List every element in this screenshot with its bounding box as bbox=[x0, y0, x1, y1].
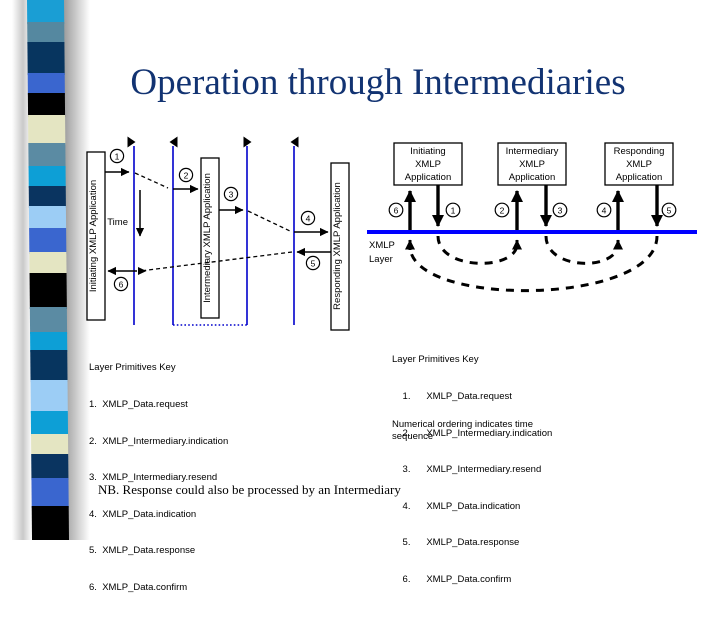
app-box-responding-line2: XMLP bbox=[626, 159, 652, 170]
step-marker-6: 6 bbox=[114, 277, 127, 290]
app-box-responding-line1: Responding bbox=[614, 146, 665, 157]
time-axis: Time bbox=[107, 190, 140, 236]
lifeline-label-intermediary: Intermediary XMLP Application bbox=[202, 173, 213, 303]
message-dashed-3-4 bbox=[248, 211, 290, 231]
right-key-item-3: 3. XMLP_Intermediary.resend bbox=[392, 464, 552, 476]
nb-note: NB. Response could also be processed by … bbox=[98, 482, 401, 498]
app-box-initiating: Initiating XMLP Application bbox=[394, 143, 462, 185]
app-box-responding-line3: Application bbox=[616, 172, 662, 183]
dash-arrowhead-6 bbox=[138, 267, 147, 275]
step-number-1: 1 bbox=[115, 151, 120, 161]
lifeline-label-responding: Responding XMLP Application bbox=[332, 182, 343, 310]
app-box-intermediary-line3: Application bbox=[509, 172, 555, 183]
step-marker-1: 1 bbox=[110, 149, 123, 162]
app-box-intermediary-line1: Intermediary bbox=[506, 146, 559, 157]
boundary-arrow-right-4 bbox=[291, 137, 299, 148]
right-key-title: Layer Primitives Key bbox=[392, 354, 552, 366]
page-title: Operation through Intermediaries bbox=[68, 58, 688, 110]
app-box-initiating-line2: XMLP bbox=[415, 159, 441, 170]
primitive-number-3: 3 bbox=[558, 205, 563, 215]
right-key-item-4: 4. XMLP_Data.indication bbox=[392, 501, 552, 513]
xmlp-layer-label-line1: XMLP bbox=[369, 240, 395, 251]
step-number-5: 5 bbox=[311, 258, 316, 268]
step-number-3: 3 bbox=[229, 189, 234, 199]
left-key-item-4: 4. XMLP_Data.indication bbox=[89, 509, 228, 521]
right-key-item-6: 6. XMLP_Data.confirm bbox=[392, 574, 552, 586]
left-key-item-6: 6. XMLP_Data.confirm bbox=[89, 582, 228, 594]
app-box-initiating-line3: Application bbox=[405, 172, 451, 183]
step-marker-4: 4 bbox=[301, 211, 314, 224]
step-number-2: 2 bbox=[184, 170, 189, 180]
app-box-initiating-line1: Initiating bbox=[410, 146, 445, 157]
primitive-number-5: 5 bbox=[667, 205, 672, 215]
xmlp-layer-label-line2: Layer bbox=[369, 254, 393, 265]
lifeline-label-initiating: Initiating XMLP Application bbox=[88, 180, 99, 292]
boundary-arrowhead-group bbox=[128, 137, 299, 148]
app-box-intermediary-line2: XMLP bbox=[519, 159, 545, 170]
boundary-arrow-left-1 bbox=[128, 137, 136, 148]
boundary-arrow-left-3 bbox=[244, 137, 252, 148]
layer-transfer-3-4 bbox=[546, 236, 618, 263]
sequence-diagram: Initiating XMLP Application Intermediary… bbox=[80, 132, 365, 337]
layer-transfer-5-6 bbox=[410, 236, 657, 291]
step-marker-5: 5 bbox=[306, 256, 319, 269]
primitive-marker-4: 4 bbox=[597, 203, 611, 217]
step-number-4: 4 bbox=[306, 213, 311, 223]
message-arrow-6 bbox=[108, 267, 147, 275]
slide-canvas: Operation through Intermediaries bbox=[0, 0, 720, 540]
left-key-item-1: 1. XMLP_Data.request bbox=[89, 399, 228, 411]
app-box-intermediary: Intermediary XMLP Application bbox=[498, 143, 566, 185]
boundary-arrow-right-2 bbox=[170, 137, 178, 148]
time-axis-label: Time bbox=[107, 217, 128, 228]
step-number-6: 6 bbox=[119, 279, 124, 289]
primitive-marker-2: 2 bbox=[495, 203, 509, 217]
right-key-item-5: 5. XMLP_Data.response bbox=[392, 537, 552, 549]
primitive-marker-1: 1 bbox=[446, 203, 460, 217]
primitive-marker-6: 6 bbox=[389, 203, 403, 217]
left-key-title: Layer Primitives Key bbox=[89, 362, 228, 374]
right-key-item-1: 1. XMLP_Data.request bbox=[392, 391, 552, 403]
left-key-item-5: 5. XMLP_Data.response bbox=[89, 545, 228, 557]
primitive-marker-5: 5 bbox=[662, 203, 676, 217]
lifeline-intermediary: Intermediary XMLP Application bbox=[201, 158, 219, 318]
lifeline-responding: Responding XMLP Application bbox=[331, 163, 349, 330]
layer-transfer-1-2 bbox=[438, 236, 517, 263]
primitive-marker-3: 3 bbox=[553, 203, 567, 217]
primitive-number-1: 1 bbox=[451, 205, 456, 215]
layer-diagram: Initiating XMLP Application Intermediary… bbox=[365, 136, 705, 321]
primitive-number-4: 4 bbox=[602, 205, 607, 215]
left-primitives-key: Layer Primitives Key 1. XMLP_Data.reques… bbox=[89, 338, 228, 619]
primitive-number-2: 2 bbox=[500, 205, 505, 215]
primitive-number-6: 6 bbox=[394, 205, 399, 215]
app-box-responding: Responding XMLP Application bbox=[605, 143, 673, 185]
lifeline-initiating: Initiating XMLP Application bbox=[87, 152, 105, 320]
step-marker-3: 3 bbox=[224, 187, 237, 200]
left-key-item-2: 2. XMLP_Intermediary.indication bbox=[89, 436, 228, 448]
step-marker-2: 2 bbox=[179, 168, 192, 181]
right-primitives-key: Layer Primitives Key 1. XMLP_Data.reques… bbox=[392, 330, 552, 611]
time-sequence-note: Numerical ordering indicates time sequen… bbox=[392, 419, 533, 443]
message-dashed-1-2 bbox=[135, 173, 168, 188]
